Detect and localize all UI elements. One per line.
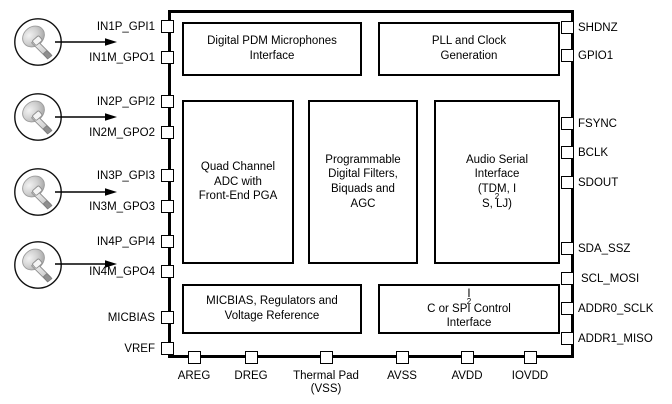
pin-shdnz[interactable] — [561, 21, 574, 34]
pin-micbias[interactable] — [161, 311, 174, 324]
pin-label-addr0-sclk: ADDR0_SCLK — [578, 303, 653, 315]
pin-label-dreg: DREG — [234, 370, 267, 383]
pin-in3m-gpo3[interactable] — [161, 200, 174, 213]
pin-label-thermal-pad-line2: (VSS) — [293, 383, 359, 396]
pin-label-in4m-gpo4: IN4M_GPO4 — [0, 266, 155, 278]
block-line: Voltage Reference — [202, 309, 342, 324]
block-pll-clock: PLL and Clock Generation — [378, 22, 560, 76]
block-line: Front-End PGA — [195, 189, 282, 204]
pin-label-fsync: FSYNC — [578, 118, 617, 130]
block-line: MICBIAS, Regulators and — [202, 294, 342, 309]
pin-bclk[interactable] — [561, 146, 574, 159]
block-line: Interface — [462, 167, 532, 182]
block-line: Interface — [203, 49, 341, 64]
pin-label-avdd: AVDD — [451, 370, 482, 383]
pin-in3p-gpi3[interactable] — [161, 169, 174, 182]
signal-arrow-3 — [55, 187, 117, 197]
pin-in4m-gpo4[interactable] — [161, 265, 174, 278]
pin-label-sdout: SDOUT — [578, 177, 618, 189]
pin-sdout[interactable] — [561, 176, 574, 189]
block-diagram: Digital PDM Microphones Interface PLL an… — [0, 0, 672, 404]
pin-scl-mosi[interactable] — [561, 272, 574, 285]
block-audio-serial-interface: Audio Serial Interface (TDM, I2S, LJ) — [434, 100, 560, 264]
pin-label-in1p-gpi1: IN1P_GPI1 — [0, 21, 155, 33]
pin-label-areg: AREG — [178, 370, 211, 383]
pin-in1m-gpo1[interactable] — [161, 51, 174, 64]
pin-label-micbias: MICBIAS — [0, 312, 155, 324]
pin-in2p-gpi2[interactable] — [161, 95, 174, 108]
pin-iovdd[interactable] — [524, 351, 537, 364]
block-line: AGC — [321, 197, 404, 212]
pin-in4p-gpi4[interactable] — [161, 235, 174, 248]
pin-gpio1[interactable] — [561, 49, 574, 62]
pin-label-shdnz: SHDNZ — [578, 22, 618, 34]
block-digital-filters: Programmable Digital Filters, Biquads an… — [308, 100, 418, 264]
pin-label-avss: AVSS — [387, 370, 417, 383]
block-line-i2c: I2C or SPI Control — [423, 287, 515, 316]
pin-thermal-pad[interactable] — [320, 351, 333, 364]
block-quad-adc: Quad Channel ADC with Front-End PGA — [182, 100, 294, 264]
pin-addr0-sclk[interactable] — [561, 302, 574, 315]
pin-label-addr1-miso: ADDR1_MISO — [578, 333, 653, 345]
block-line: Digital Filters, — [321, 167, 404, 182]
block-micbias-regulators: MICBIAS, Regulators and Voltage Referenc… — [182, 284, 362, 334]
block-line: Digital PDM Microphones — [203, 34, 341, 49]
block-line: ADC with — [195, 175, 282, 190]
pin-label-in4p-gpi4: IN4P_GPI4 — [0, 236, 155, 248]
pin-dreg[interactable] — [245, 351, 258, 364]
block-line: Interface — [423, 316, 515, 331]
block-line: Quad Channel — [195, 160, 282, 175]
pin-label-in2m-gpo2: IN2M_GPO2 — [0, 127, 155, 139]
pin-fsync[interactable] — [561, 117, 574, 130]
block-line: PLL and Clock — [428, 34, 510, 49]
pin-label-in3m-gpo3: IN3M_GPO3 — [0, 201, 155, 213]
block-control-interface: I2C or SPI Control Interface — [378, 284, 560, 334]
pin-in1p-gpi1[interactable] — [161, 20, 174, 33]
pin-label-thermal-pad: Thermal Pad (VSS) — [293, 370, 359, 396]
block-line-tdm: (TDM, I2S, LJ) — [462, 182, 532, 211]
pin-label-scl-mosi: SCL_MOSI — [581, 273, 639, 285]
pin-label-iovdd: IOVDD — [512, 370, 548, 383]
block-line: Programmable — [321, 153, 404, 168]
pin-in2m-gpo2[interactable] — [161, 126, 174, 139]
pin-sda-ssz[interactable] — [561, 242, 574, 255]
pin-avdd[interactable] — [461, 351, 474, 364]
pin-areg[interactable] — [188, 351, 201, 364]
pin-addr1-miso[interactable] — [561, 332, 574, 345]
signal-arrow-1 — [55, 37, 117, 47]
block-line: Audio Serial — [462, 153, 532, 168]
pin-label-in2p-gpi2: IN2P_GPI2 — [0, 96, 155, 108]
block-line: Generation — [428, 49, 510, 64]
pin-label-thermal-pad-line1: Thermal Pad — [293, 370, 359, 383]
block-line: Biquads and — [321, 182, 404, 197]
pin-label-sda-ssz: SDA_SSZ — [578, 243, 630, 255]
pin-vref[interactable] — [161, 342, 174, 355]
pin-label-in1m-gpo1: IN1M_GPO1 — [0, 52, 155, 64]
pin-label-vref: VREF — [0, 343, 155, 355]
pin-avss[interactable] — [396, 351, 409, 364]
pin-label-bclk: BCLK — [578, 147, 608, 159]
pin-label-gpio1: GPIO1 — [578, 50, 613, 62]
signal-arrow-2 — [55, 112, 117, 122]
block-pdm-interface: Digital PDM Microphones Interface — [182, 22, 362, 76]
pin-label-in3p-gpi3: IN3P_GPI3 — [0, 170, 155, 182]
